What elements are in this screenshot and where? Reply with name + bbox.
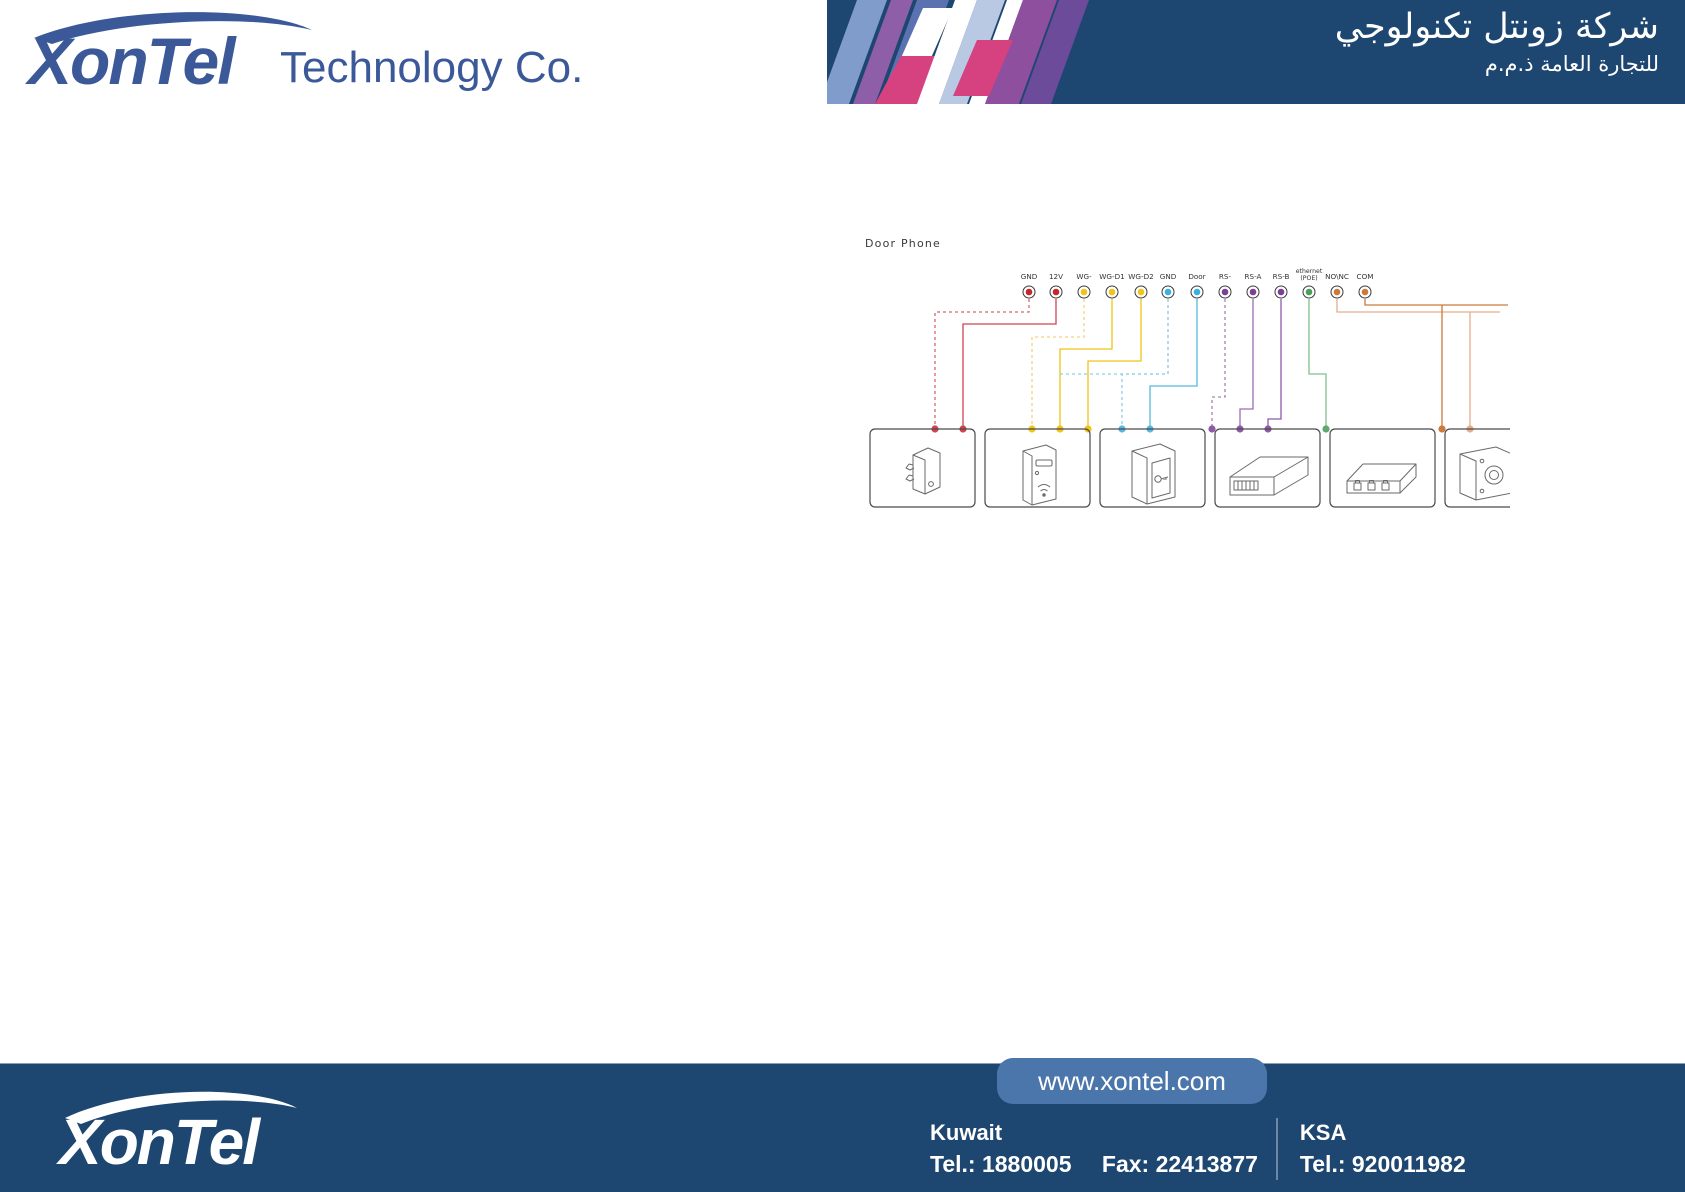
svg-text:RS-A: RS-A: [1245, 272, 1262, 281]
svg-text:RS-B: RS-B: [1273, 272, 1290, 281]
contact-block-kuwait: Kuwait Tel.: 1880005 Fax: 22413877: [930, 1118, 1276, 1180]
wiring-diagram: Door Phone GND 12V WG- WG-D1 WG-D2 GND D…: [860, 229, 1510, 559]
contact-country-kuwait: Kuwait: [930, 1118, 1258, 1148]
header-logo: XonTel Technology Co.: [22, 8, 582, 98]
kuwait-fax: Fax: 22413877: [1102, 1151, 1258, 1177]
svg-text:WG-D1: WG-D1: [1099, 272, 1124, 281]
svg-text:Door: Door: [1188, 272, 1205, 281]
power-adapter-icon: [906, 448, 940, 494]
page-footer: www.xontel.com XonTel Kuwait Tel.: 18800…: [0, 992, 1685, 1192]
svg-text:GND: GND: [1021, 272, 1038, 281]
network-switch-icon: [1347, 464, 1416, 493]
svg-text:ethernet: ethernet: [1296, 268, 1323, 275]
wiring-diagram-svg: GND 12V WG- WG-D1 WG-D2 GND Door RS- RS-…: [860, 229, 1510, 559]
svg-text:NO\NC: NO\NC: [1325, 272, 1349, 281]
exit-button-icon: [1460, 447, 1510, 501]
device-boxes: [870, 429, 1510, 507]
svg-text:Technology Co.: Technology Co.: [280, 43, 582, 92]
stripe-svg: [827, 0, 1089, 104]
svg-text:XonTel: XonTel: [56, 1106, 261, 1178]
card-reader-icon: [1023, 445, 1056, 505]
svg-text:WG-D2: WG-D2: [1128, 272, 1153, 281]
ksa-tel: Tel.: 920011982: [1300, 1151, 1466, 1177]
wire-paths: [935, 299, 1508, 429]
door-lock-icon: [1132, 444, 1175, 504]
svg-text:(POE): (POE): [1300, 275, 1317, 282]
svg-text:RS-: RS-: [1219, 272, 1232, 281]
terminal-sockets: [1023, 286, 1371, 298]
footer-xontel-logo-svg: XonTel: [55, 1082, 335, 1178]
svg-text:XonTel: XonTel: [24, 24, 237, 98]
footer-top-rule: [0, 1063, 1685, 1064]
terminal-labels: GND 12V WG- WG-D1 WG-D2 GND Door RS- RS-…: [1021, 268, 1374, 282]
page-body: Door Phone GND 12V WG- WG-D1 WG-D2 GND D…: [0, 104, 1685, 992]
svg-text:12V: 12V: [1049, 272, 1063, 281]
footer-contacts: Kuwait Tel.: 1880005 Fax: 22413877 KSA T…: [930, 1118, 1484, 1180]
xontel-logo-svg: XonTel Technology Co.: [22, 8, 582, 98]
website-url: www.xontel.com: [1038, 1066, 1226, 1097]
contact-lines-ksa: Tel.: 920011982: [1300, 1148, 1466, 1180]
header-arabic-text: شركة زونتل تكنولوجي للتجارة العامة ذ.م.م: [1335, 4, 1659, 78]
svg-text:COM: COM: [1357, 272, 1374, 281]
website-pill[interactable]: www.xontel.com: [997, 1058, 1267, 1104]
page-header: XonTel Technology Co. شركة زونتل تكنولوج…: [0, 0, 1685, 104]
controller-box-icon: [1230, 457, 1308, 495]
kuwait-tel: Tel.: 1880005: [930, 1151, 1072, 1177]
svg-text:WG-: WG-: [1076, 272, 1092, 281]
contact-block-ksa: KSA Tel.: 920011982: [1276, 1118, 1484, 1180]
contact-lines-kuwait: Tel.: 1880005 Fax: 22413877: [930, 1148, 1258, 1180]
header-stripe-artwork: [827, 0, 1089, 104]
contact-country-ksa: KSA: [1300, 1118, 1466, 1148]
arabic-company-subtitle: للتجارة العامة ذ.م.م: [1335, 50, 1659, 78]
arabic-company-name: شركة زونتل تكنولوجي: [1335, 4, 1659, 50]
svg-text:GND: GND: [1160, 272, 1177, 281]
footer-logo: XonTel: [55, 1082, 335, 1178]
